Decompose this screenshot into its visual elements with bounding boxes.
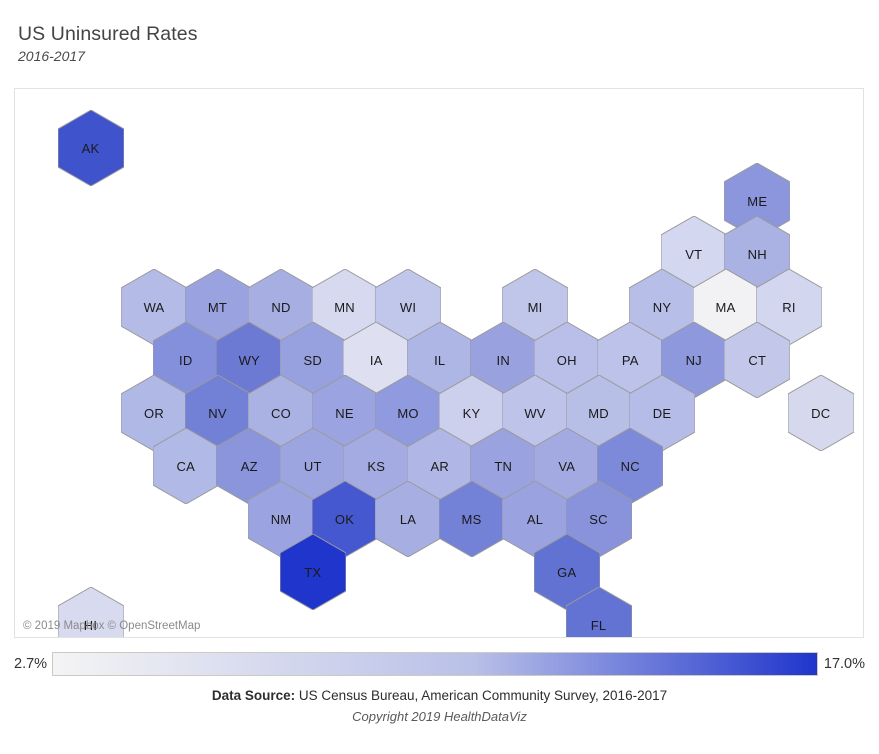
hex-shape-la (375, 481, 441, 557)
page-subtitle: 2016-2017 (18, 47, 618, 66)
hex-state-ak[interactable]: AK (58, 110, 124, 186)
legend-max-label: 17.0% (824, 656, 865, 672)
hex-state-ca[interactable]: CA (153, 428, 219, 504)
hex-shape-ms (439, 481, 505, 557)
hex-tile-map-panel: AKMEVTNHWAMTNDMNWIMINYMARIIDWYSDIAILINOH… (14, 88, 864, 638)
hex-shape-ca (153, 428, 219, 504)
hex-state-ct[interactable]: CT (724, 322, 790, 398)
data-source-line: Data Source: US Census Bureau, American … (0, 686, 879, 705)
legend-gradient-bar (52, 652, 818, 676)
color-legend: 2.7% 17.0% (14, 650, 865, 678)
footer: Data Source: US Census Bureau, American … (0, 686, 879, 726)
visualization-page: US Uninsured Rates 2016-2017 AKMEVTNHWAM… (0, 0, 879, 754)
data-source-text: US Census Bureau, American Community Sur… (295, 688, 667, 703)
hex-shape-ct (724, 322, 790, 398)
map-attribution: © 2019 Mapbox © OpenStreetMap (23, 620, 200, 632)
legend-min-label: 2.7% (14, 656, 47, 672)
hex-state-ms[interactable]: MS (439, 481, 505, 557)
copyright-line: Copyright 2019 HealthDataViz (0, 707, 879, 726)
hex-shape-ak (58, 110, 124, 186)
page-title: US Uninsured Rates (18, 22, 618, 46)
hex-state-fl[interactable]: FL (566, 587, 632, 638)
hex-state-tx[interactable]: TX (280, 534, 346, 610)
hex-shape-tx (280, 534, 346, 610)
title-block: US Uninsured Rates 2016-2017 (18, 22, 618, 66)
hex-state-dc[interactable]: DC (788, 375, 854, 451)
hex-shape-fl (566, 587, 632, 638)
hex-state-la[interactable]: LA (375, 481, 441, 557)
hex-shape-dc (788, 375, 854, 451)
hexagon-layer: AKMEVTNHWAMTNDMNWIMINYMARIIDWYSDIAILINOH… (15, 89, 863, 637)
data-source-label: Data Source: (212, 688, 295, 703)
